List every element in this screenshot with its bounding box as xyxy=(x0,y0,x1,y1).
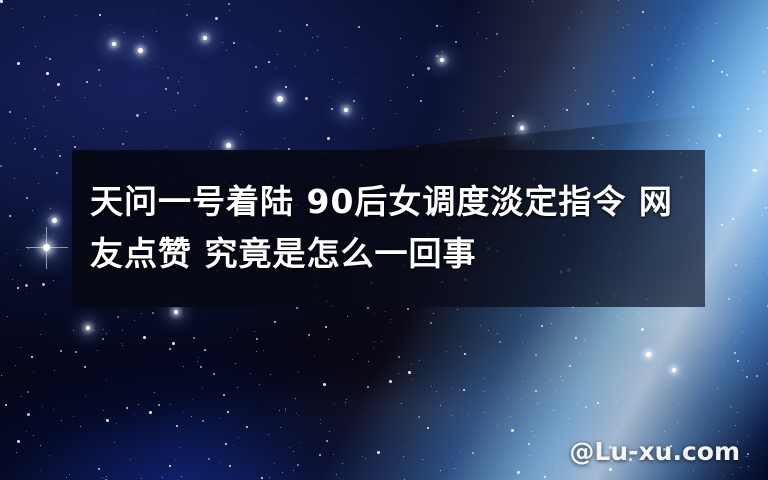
starfield-large xyxy=(0,0,3,3)
bright-star xyxy=(112,42,116,46)
bright-star xyxy=(86,326,90,330)
bright-star-spiked xyxy=(43,244,50,251)
bright-star xyxy=(440,58,444,62)
bright-star xyxy=(138,48,143,53)
bright-star xyxy=(672,368,676,372)
bright-star xyxy=(52,218,57,223)
watermark-label: @Lu-xu.com xyxy=(569,437,740,466)
bright-star xyxy=(203,36,207,40)
bright-star xyxy=(226,143,231,148)
bright-star xyxy=(277,96,283,102)
bright-star xyxy=(344,108,348,112)
thumbnail-image: 天问一号着陆 90后女调度淡定指令 网友点赞 究竟是怎么一回事 @Lu-xu.c… xyxy=(0,0,768,480)
bright-star xyxy=(520,126,524,130)
bright-star xyxy=(646,352,651,357)
bright-star xyxy=(174,310,178,314)
caption-title: 天问一号着陆 90后女调度淡定指令 网友点赞 究竟是怎么一回事 xyxy=(90,176,690,280)
